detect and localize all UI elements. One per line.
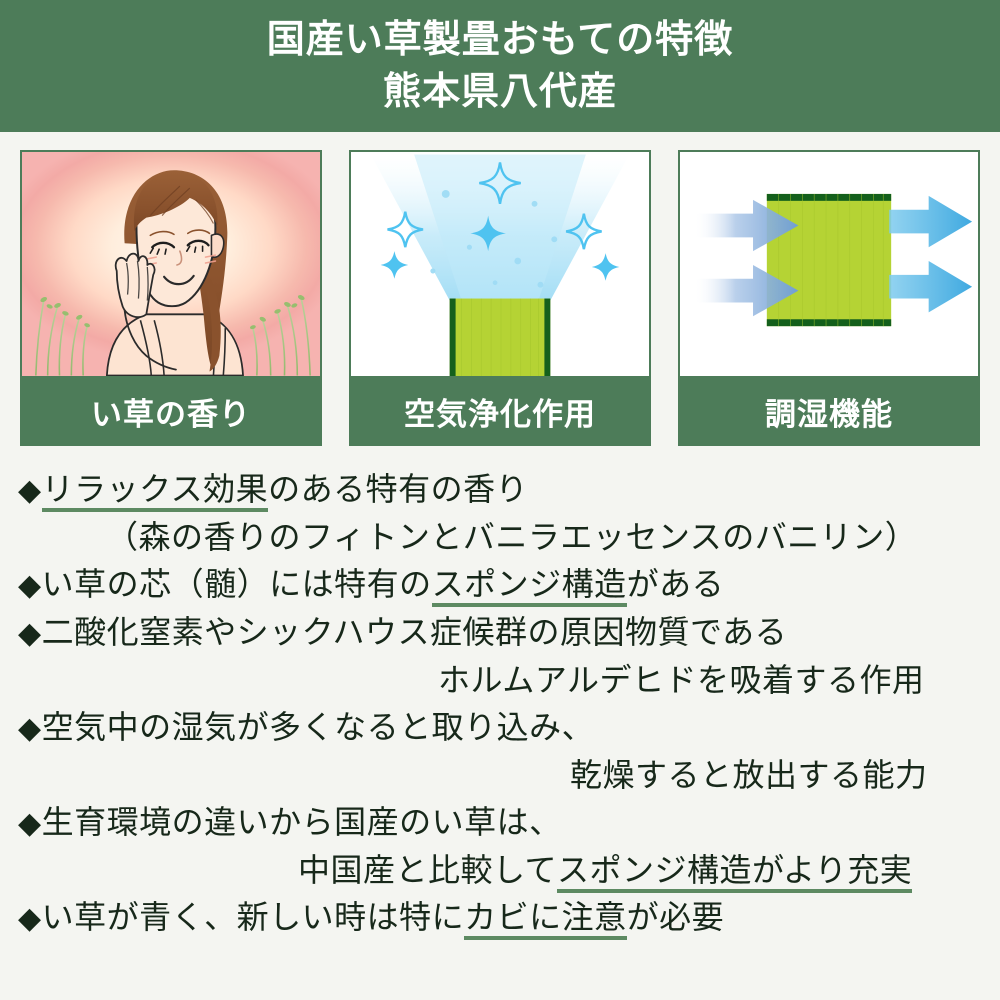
feature-text: ホルムアルデヒドを吸着する作用 [438,662,925,698]
feature-text: 空気中の湿気が多くなると取り込み、 [42,709,595,745]
bullet-icon: ◆ [18,474,42,507]
feature-card-humidity: 調湿機能 [678,150,980,446]
woman-relaxing-icon [22,152,320,376]
feature-text: がある [627,566,725,602]
feature-line: ◆生育環境の違いから国産のい草は、 [18,799,982,847]
bullet-icon: ◆ [18,712,42,745]
infographic-page: 国産い草製畳おもての特徴 熊本県八代産 [0,0,1000,1000]
feature-card-humidity-label: 調湿機能 [678,376,980,446]
tatami-sparkles-icon [351,152,649,376]
feature-text-highlight: スポンジ構造がより充実 [557,852,912,893]
feature-text: が必要 [627,899,725,935]
feature-line: 中国産と比較してスポンジ構造がより充実 [18,847,982,894]
feature-text: のある特有の香り [268,471,528,507]
tatami-block [450,299,551,376]
feature-line: 乾燥すると放出する能力 [18,752,982,799]
tatami-block [767,194,891,326]
feature-card-scent: い草の香り [20,150,322,446]
feature-text-highlight: スポンジ構造 [432,566,627,607]
feature-text-highlight: リラックス効果 [42,471,269,512]
feature-card-scent-label: い草の香り [20,376,322,446]
page-header: 国産い草製畳おもての特徴 熊本県八代産 [0,0,1000,132]
feature-line: ◆い草が青く、新しい時は特にカビに注意が必要 [18,894,982,942]
page-title-line1: 国産い草製畳おもての特徴 [267,14,733,66]
bullet-icon: ◆ [18,617,42,650]
humidity-figure [678,150,980,376]
feature-text-highlight: カビに注意 [464,899,627,940]
release-arrow-top [889,196,972,247]
release-arrow-bottom [889,261,972,312]
feature-line: ◆い草の芯（髄）には特有のスポンジ構造がある [18,561,982,609]
feature-card-air-purification: 空気浄化作用 [349,150,651,446]
feature-line: ◆リラックス効果のある特有の香り [18,466,982,514]
feature-text-list: ◆リラックス効果のある特有の香り （森の香りのフィトンとバニラエッセンスのバニリ… [0,466,1000,942]
feature-line: （森の香りのフィトンとバニラエッセンスのバニリン） [18,514,982,561]
feature-line: ◆空気中の湿気が多くなると取り込み、 [18,704,982,752]
feature-text: い草の芯（髄）には特有の [42,566,432,602]
page-title-line2: 熊本県八代産 [383,66,617,118]
feature-text: 生育環境の違いから国産のい草は、 [42,804,562,840]
air-purification-figure [349,150,651,376]
bullet-icon: ◆ [18,902,42,935]
feature-card-row: い草の香り [20,150,980,446]
scent-figure [20,150,322,376]
feature-text: 二酸化窒素やシックハウス症候群の原因物質である [42,614,788,650]
tatami-airflow-icon [680,152,978,376]
feature-text: （森の香りのフィトンとバニラエッセンスのバニリン） [106,519,917,555]
feature-line: ホルムアルデヒドを吸着する作用 [18,657,982,704]
bullet-icon: ◆ [18,807,42,840]
bullet-icon: ◆ [18,569,42,602]
feature-line: ◆二酸化窒素やシックハウス症候群の原因物質である [18,609,982,657]
feature-text: 乾燥すると放出する能力 [570,757,928,793]
feature-card-air-purification-label: 空気浄化作用 [349,376,651,446]
feature-text: 中国産と比較して [298,852,557,888]
feature-text: い草が青く、新しい時は特に [42,899,465,935]
